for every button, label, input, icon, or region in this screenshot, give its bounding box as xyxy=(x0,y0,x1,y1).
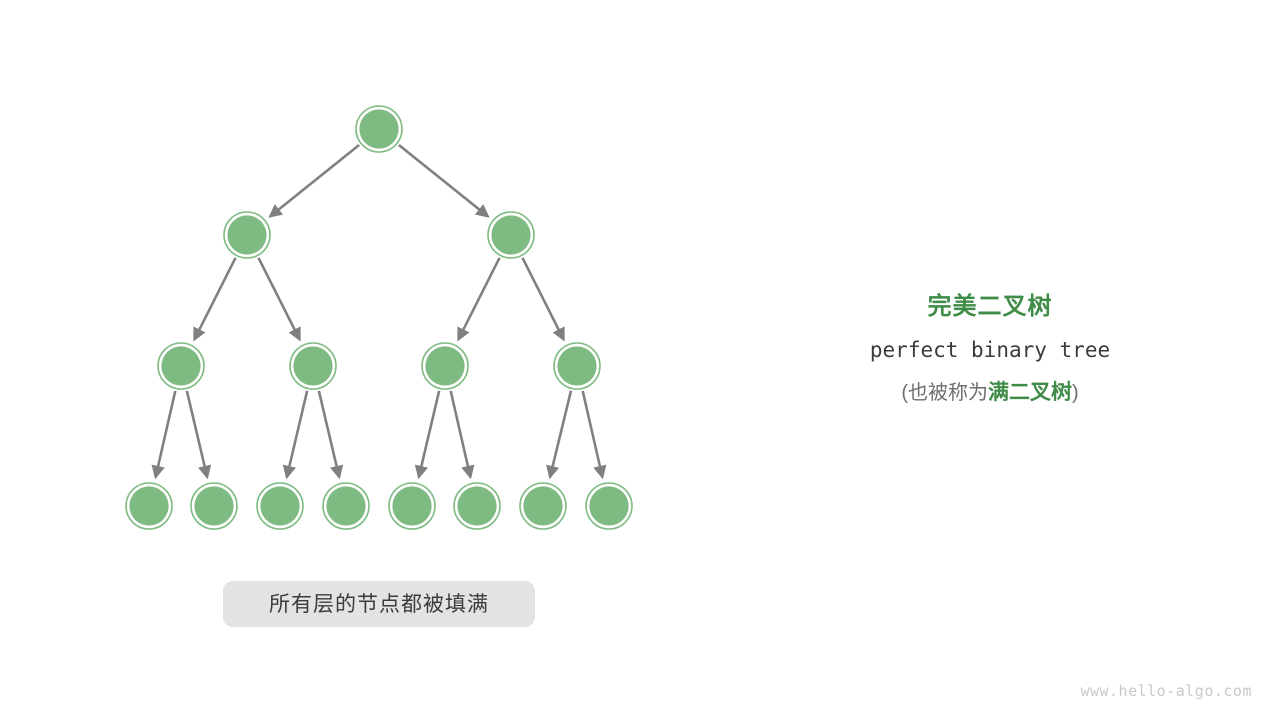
legend-alias-prefix: (也被称为 xyxy=(901,382,988,404)
tree-node[interactable] xyxy=(356,106,402,152)
tree-edge xyxy=(458,258,499,340)
tree-node-core xyxy=(392,486,431,525)
tree-node-core xyxy=(359,109,398,148)
node-layer xyxy=(126,106,632,529)
tree-edge xyxy=(419,391,439,477)
tree-node[interactable] xyxy=(158,343,204,389)
tree-edge xyxy=(187,391,207,477)
tree-node[interactable] xyxy=(454,483,500,529)
tree-node[interactable] xyxy=(389,483,435,529)
tree-node[interactable] xyxy=(323,483,369,529)
tree-node-core xyxy=(260,486,299,525)
tree-edge xyxy=(156,391,176,477)
tree-node[interactable] xyxy=(290,343,336,389)
legend-alias: (也被称为满二叉树) xyxy=(780,380,1200,405)
caption-badge: 所有层的节点都被填满 xyxy=(223,581,535,627)
tree-node-core xyxy=(161,346,200,385)
tree-node-core xyxy=(589,486,628,525)
tree-node-core xyxy=(293,346,332,385)
caption-label: 所有层的节点都被填满 xyxy=(269,594,489,615)
legend-alias-term: 满二叉树 xyxy=(988,381,1072,404)
tree-edge xyxy=(194,258,235,340)
tree-node[interactable] xyxy=(520,483,566,529)
tree-edge xyxy=(270,145,359,217)
tree-node[interactable] xyxy=(586,483,632,529)
tree-node-core xyxy=(557,346,596,385)
legend-alias-suffix: ) xyxy=(1072,382,1079,404)
tree-node-core xyxy=(129,486,168,525)
tree-node-core xyxy=(491,215,530,254)
tree-edge xyxy=(451,391,471,477)
tree-edge xyxy=(550,391,571,478)
tree-node[interactable] xyxy=(126,483,172,529)
legend-subtitle-english: perfect binary tree xyxy=(780,338,1200,363)
tree-edge xyxy=(287,391,307,477)
diagram-canvas: 所有层的节点都被填满 完美二叉树 perfect binary tree (也被… xyxy=(0,0,1280,720)
tree-node-core xyxy=(457,486,496,525)
tree-edge xyxy=(583,391,603,477)
tree-node-core xyxy=(523,486,562,525)
tree-node[interactable] xyxy=(488,212,534,258)
tree-node[interactable] xyxy=(257,483,303,529)
tree-node[interactable] xyxy=(224,212,270,258)
tree-edge xyxy=(399,145,488,217)
tree-node-core xyxy=(425,346,464,385)
tree-node-core xyxy=(326,486,365,525)
tree-node-core xyxy=(227,215,266,254)
watermark-label: www.hello-algo.com xyxy=(1080,682,1252,700)
legend-block: 完美二叉树 perfect binary tree (也被称为满二叉树) xyxy=(780,292,1200,405)
tree-node-core xyxy=(194,486,233,525)
legend-title: 完美二叉树 xyxy=(780,292,1200,322)
tree-node[interactable] xyxy=(191,483,237,529)
tree-edge xyxy=(258,258,299,340)
tree-node[interactable] xyxy=(422,343,468,389)
tree-node[interactable] xyxy=(554,343,600,389)
edge-layer xyxy=(156,145,603,477)
tree-edge xyxy=(319,391,339,477)
tree-edge xyxy=(522,258,563,340)
